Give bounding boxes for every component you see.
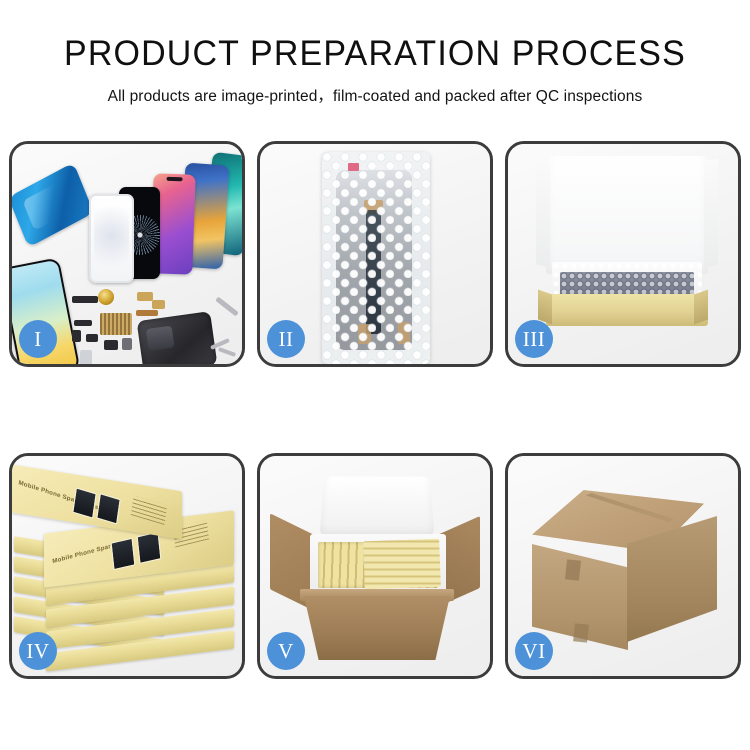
phone-backplate: [137, 311, 218, 364]
step-panel-6: VI: [505, 453, 741, 679]
blue-back-cover: [12, 162, 94, 247]
page-subtitle: All products are image-printed，film-coat…: [0, 84, 750, 106]
carton-tape-mark: [573, 623, 589, 642]
steps-grid: I II: [9, 141, 741, 679]
small-part: [122, 338, 132, 350]
product-photo: [72, 487, 96, 518]
header: PRODUCT PREPARATION PROCESS All products…: [0, 0, 750, 106]
product-photo: [137, 532, 162, 564]
yellow-boxes-inside: [363, 539, 441, 590]
step-badge-2: II: [267, 320, 305, 358]
step-panel-4: Mobile Phone Spare Parts Mobile Phone Sp…: [9, 453, 245, 679]
glass-screen-protector: [89, 194, 134, 283]
pink-sticker: [348, 163, 359, 171]
yellow-box-tray: [546, 294, 708, 326]
product-photo: [111, 538, 136, 570]
gold-coil-part: [98, 289, 114, 305]
tray-left-side: [538, 289, 552, 324]
small-part: [86, 334, 98, 342]
step-panel-5: V: [257, 453, 493, 679]
carton-body: [304, 596, 450, 660]
product-preparation-infographic: PRODUCT PREPARATION PROCESS All products…: [0, 0, 750, 750]
spec-text-lines: [131, 496, 167, 525]
small-part: [136, 310, 158, 316]
small-part: [72, 296, 98, 303]
foam-box-lid: [320, 476, 435, 536]
product-photo: [96, 493, 120, 524]
small-part: [137, 292, 153, 301]
carton-tape-mark: [565, 559, 581, 580]
small-part: [80, 350, 92, 364]
bubble-texture: [322, 152, 430, 364]
chip-grid-part: [100, 313, 132, 335]
bubble-wrap-bag: [322, 152, 430, 364]
step-badge-5: V: [267, 632, 305, 670]
step-badge-1: I: [19, 320, 57, 358]
small-part: [104, 340, 118, 350]
step-panel-1: I: [9, 141, 245, 367]
tray-right-side: [694, 289, 708, 324]
step-badge-6: VI: [515, 632, 553, 670]
white-foam-liner: [546, 156, 708, 274]
step-panel-3: III: [505, 141, 741, 367]
step-panel-2: II: [257, 141, 493, 367]
page-title: PRODUCT PREPARATION PROCESS: [11, 36, 739, 73]
step-badge-3: III: [515, 320, 553, 358]
pry-tool: [215, 297, 239, 317]
small-part: [72, 330, 81, 342]
screwdriver: [218, 347, 236, 357]
small-part: [152, 300, 165, 309]
step-badge-4: IV: [19, 632, 57, 670]
small-part: [74, 320, 92, 326]
